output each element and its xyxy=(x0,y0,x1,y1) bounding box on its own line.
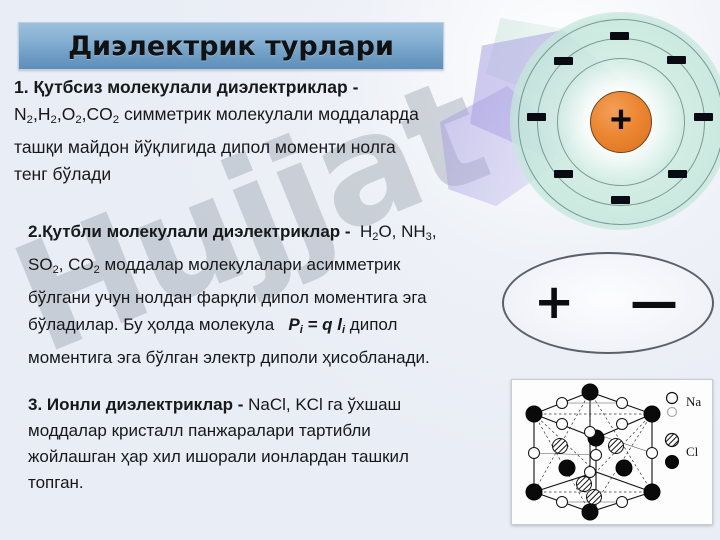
block3-line1: 3. Ионли диэлектриклар - NaCl, KCl га ўх… xyxy=(28,392,518,418)
text-block-1: 1. Қутбсиз молекулали диэлектриклар - N2… xyxy=(14,74,494,188)
formula-equals: = xyxy=(303,315,322,334)
block1-heading: 1. Қутбсиз молекулали диэлектриклар - xyxy=(14,74,494,101)
atom-nucleus: + xyxy=(590,91,652,153)
legend-label-cl: Cl xyxy=(686,444,699,459)
legend-na-icon-2 xyxy=(668,408,677,417)
legend-cl-hatch-icon xyxy=(666,434,679,447)
formula-co2: CO xyxy=(68,255,94,274)
formula-nh3-tail: , xyxy=(432,222,437,241)
block2-line5: моментига эга бўлган электр диполи ҳисоб… xyxy=(28,344,518,371)
electron-marker xyxy=(667,56,686,64)
page-title: Диэлектрик турлари xyxy=(68,31,394,62)
text-block-2: 2.Қутбли молекулали диэлектриклар - H2O,… xyxy=(28,218,518,371)
formula-q: q xyxy=(322,315,337,334)
block2-line4b: дипол xyxy=(345,315,397,334)
block2-line1: 2.Қутбли молекулали диэлектриклар - H2O,… xyxy=(28,218,518,251)
dipole-plus-sign: + xyxy=(534,278,574,326)
formula-p: P xyxy=(288,315,299,334)
block1-formula-line: N2,H2,O2,CO2 симметрик молекулали моддал… xyxy=(14,101,494,134)
block2-line4: бўладилар. Бу ҳолда молекула Pi = q li д… xyxy=(28,311,518,344)
formula-co: CO xyxy=(87,104,113,124)
formula-o-sub: 2 xyxy=(75,114,81,126)
block2-line3: бўлгани учун нолдан фарқли дипол моменти… xyxy=(28,284,518,311)
block3-heading: 3. Ионли диэлектриклар - xyxy=(28,395,243,414)
formula-n-sub: 2 xyxy=(27,114,33,126)
block3-line2: моддалар кристалл панжаралари тартибли xyxy=(28,418,518,444)
atom-diagram: + xyxy=(510,12,720,230)
electron-marker xyxy=(694,113,713,121)
electron-marker xyxy=(611,196,630,204)
block1-line3: ташқи майдон йўқлигида дипол моменти нол… xyxy=(14,134,494,161)
dipole-minus-sign: — xyxy=(630,278,678,326)
block2-line4a: бўладилар. Бу ҳолда молекула xyxy=(28,315,274,334)
slide-title-box: Диэлектрик турлари xyxy=(18,22,444,70)
formula-so2: SO xyxy=(28,255,53,274)
legend-cl-icon xyxy=(666,456,679,469)
electron-marker xyxy=(668,170,687,178)
nacl-crystal-lattice-figure: Na Cl xyxy=(511,379,713,525)
block2-heading: 2.Қутбли молекулали диэлектриклар - xyxy=(28,222,351,241)
slide-canvas: Hujjat + Диэлектрик турлари 1. Қутбсиз м… xyxy=(0,0,720,540)
block3-line1-rest: NaCl, KCl га ўхшаш xyxy=(243,395,401,414)
block3-line4: топган. xyxy=(28,470,518,496)
formula-h-sub: 2 xyxy=(50,114,56,126)
lattice-svg: Na Cl xyxy=(512,380,712,524)
dipole-ellipse-diagram: + — xyxy=(502,252,714,354)
electron-marker xyxy=(610,32,629,40)
block2-line2-rest: моддалар молекулалари асимметрик xyxy=(100,255,401,274)
block3-line3: жойлашган ҳар хил ишорали ионлардан ташк… xyxy=(28,444,518,470)
block1-line2-rest: симметрик молекулали моддаларда xyxy=(119,104,419,124)
dipole-moment-formula: Pi = q li xyxy=(288,315,345,334)
formula-h2o-tail: O, xyxy=(378,222,401,241)
formula-nh3: NH xyxy=(401,222,426,241)
block2-line2: SO2, CO2 моддалар молекулалари асимметри… xyxy=(28,251,518,284)
text-block-3: 3. Ионли диэлектриклар - NaCl, KCl га ўх… xyxy=(28,392,518,496)
block1-line4: тенг бўлади xyxy=(14,161,494,188)
nucleus-plus-sign: + xyxy=(610,101,632,139)
formula-o: O xyxy=(62,104,76,124)
formula-h2o: H xyxy=(360,222,372,241)
electron-marker xyxy=(554,57,573,65)
legend-label-na: Na xyxy=(686,394,701,409)
formula-h: H xyxy=(38,104,51,124)
electron-marker xyxy=(554,170,573,178)
formula-so2-tail: , xyxy=(59,255,68,274)
legend-na-icon xyxy=(667,393,678,404)
formula-n: N xyxy=(14,104,27,124)
electron-marker xyxy=(527,113,546,121)
